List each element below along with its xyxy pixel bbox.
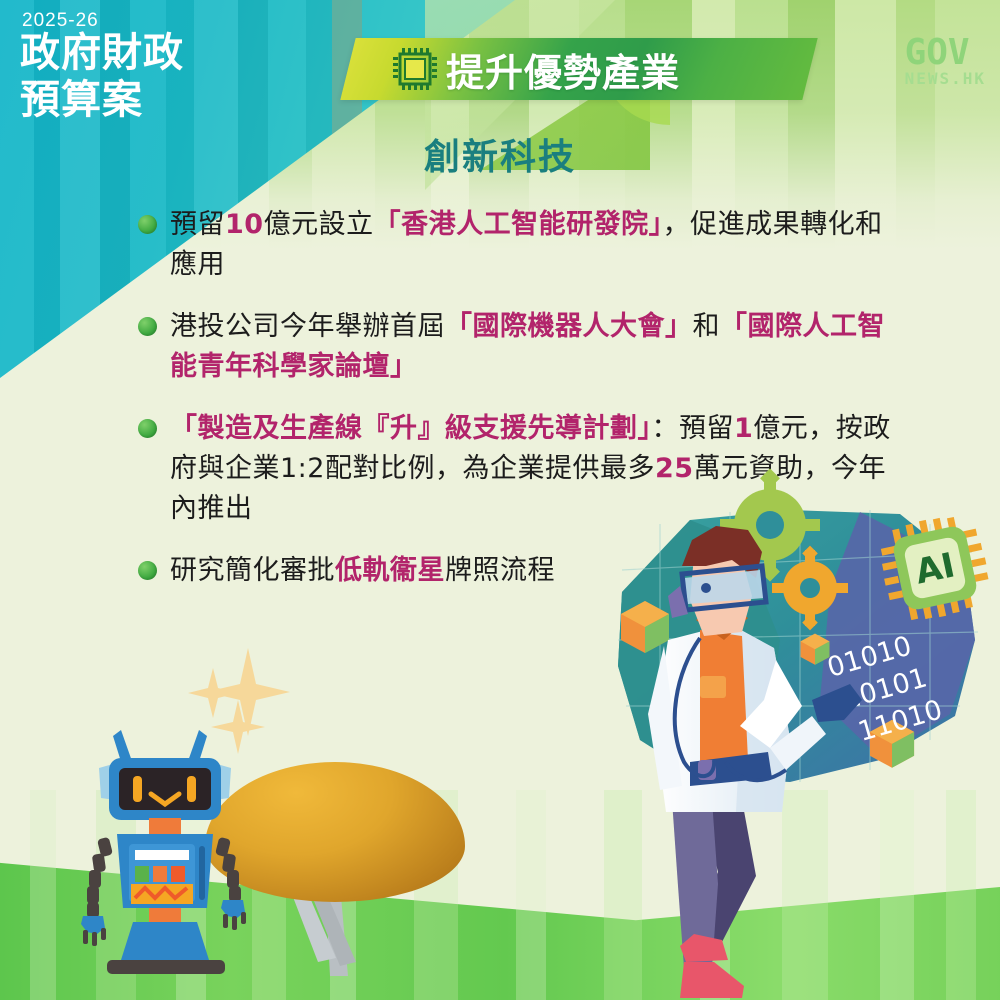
page-title-line2: 預算案 xyxy=(20,77,184,124)
bullet-production-line: 「製造及生產線『升』級支援先導計劃」：預留1億元，按政府與企業1:2配對比例，為… xyxy=(170,409,898,529)
robot-eye-right xyxy=(187,776,196,802)
bullet-dot-icon xyxy=(138,317,157,336)
infographic-canvas: 2025-26 政府財政 預算案 GOV NEWS.HK xyxy=(0,0,1000,1000)
bullet-highlight: 「國際機器人大會」 xyxy=(445,311,693,342)
robot-pedestal xyxy=(121,922,209,960)
bullet-highlight: 低軌衞星 xyxy=(335,555,445,586)
robot-base-plate xyxy=(107,960,225,974)
bullet-highlight: 「製造及生產線『升』級支援先導計劃」 xyxy=(170,413,652,444)
bullet-text: 牌照流程 xyxy=(445,555,555,586)
bullet-robot-conference: 港投公司今年舉辦首屆「國際機器人大會」和「國際人工智能青年科學家論壇」 xyxy=(170,307,898,387)
bullet-text: 億元設立 xyxy=(264,209,374,240)
page-title-line1: 政府財政 xyxy=(20,30,184,77)
page-title: 政府財政 預算案 xyxy=(20,30,184,124)
bullet-satellite: 研究簡化審批低軌衞星牌照流程 xyxy=(170,551,555,591)
bullet-dot-icon xyxy=(138,419,157,438)
bullet-ai-institute: 預留10億元設立「香港人工智能研發院」，促進成果轉化和應用 xyxy=(170,205,898,285)
bullet-dot-icon xyxy=(138,215,157,234)
robot-arm-right xyxy=(215,837,241,902)
robot-led-orange xyxy=(153,866,167,882)
robot-figure xyxy=(75,718,255,980)
bullet-text: 配對比例，為企業提供最多 xyxy=(325,453,655,484)
section-subtitle: 創新科技 xyxy=(0,128,1000,180)
logo-gov-text: GOV xyxy=(905,36,986,70)
chip-icon xyxy=(392,47,438,91)
bullet-item: 預留10億元設立「香港人工智能研發院」，促進成果轉化和應用 xyxy=(138,205,898,285)
section-banner-title: 提升優勢產業 xyxy=(446,42,680,97)
bullet-item: 研究簡化審批低軌衞星牌照流程 xyxy=(138,551,898,591)
bullet-highlight: 「香港人工智能研發院」 xyxy=(374,209,663,240)
bullet-text: 研究簡化審批 xyxy=(170,555,335,586)
section-banner: 提升優勢產業 xyxy=(348,38,810,100)
gov-news-logo[interactable]: GOV NEWS.HK xyxy=(905,36,986,88)
robot-display-bar xyxy=(135,850,189,860)
robot-arm-left xyxy=(87,837,113,918)
robot-side-stripe xyxy=(199,846,205,900)
bullet-item: 港投公司今年舉辦首屆「國際機器人大會」和「國際人工智能青年科學家論壇」 xyxy=(138,307,898,387)
robot-led-red xyxy=(171,866,185,882)
bullet-item: 「製造及生產線『升』級支援先導計劃」：預留1億元，按政府與企業1:2配對比例，為… xyxy=(138,409,898,529)
robot-led-green xyxy=(135,866,149,882)
bullet-text: 預留 xyxy=(170,209,225,240)
bullet-text: 1:2 xyxy=(280,453,325,484)
bullet-highlight: 10 xyxy=(225,209,264,240)
bullet-list: 預留10億元設立「香港人工智能研發院」，促進成果轉化和應用港投公司今年舉辦首屆「… xyxy=(138,205,898,613)
robot-eye-left xyxy=(133,776,142,802)
bullet-text: 港投公司今年舉辦首屆 xyxy=(170,311,445,342)
robot-waist xyxy=(149,908,181,922)
bullet-dot-icon xyxy=(138,561,157,580)
bullet-highlight: 1 xyxy=(734,413,753,444)
bullet-text: 和 xyxy=(693,311,721,342)
robot-neck xyxy=(149,818,181,834)
logo-newshk-text: NEWS.HK xyxy=(905,70,986,88)
bullet-highlight: 25 xyxy=(655,453,694,484)
bullet-text: ：預留 xyxy=(652,413,735,444)
fiscal-year-label: 2025-26 xyxy=(22,10,99,32)
